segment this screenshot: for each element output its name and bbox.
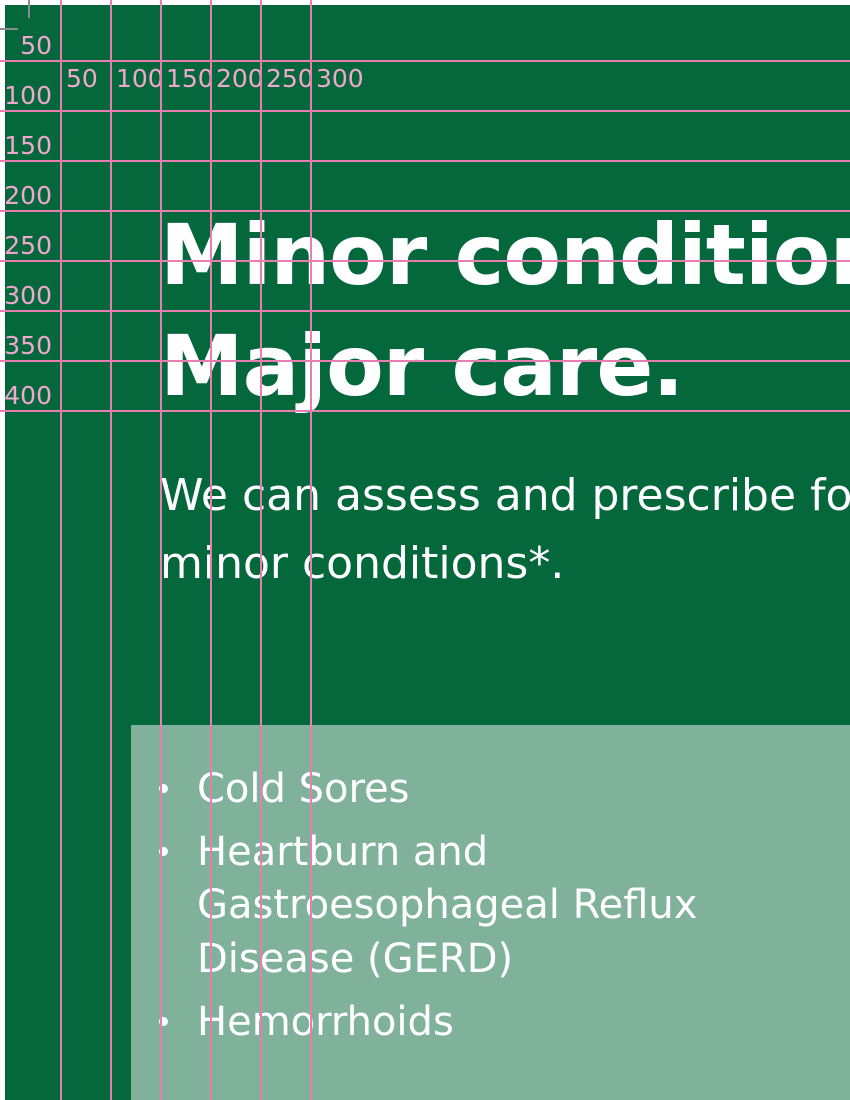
headline-line-2: Major care.	[160, 311, 850, 422]
headline-line-1: Minor conditions.	[160, 200, 850, 311]
ruler-tick-horizontal	[0, 28, 18, 30]
list-item: Heartburn and Gastroesophageal Reflux Di…	[153, 826, 817, 986]
bullet-icon	[159, 784, 168, 793]
screenshot-root: Minor conditions. Major care. We can ass…	[0, 0, 850, 1100]
bullet-icon	[159, 1017, 168, 1026]
hero-content: Minor conditions. Major care. We can ass…	[160, 200, 850, 598]
subhead-line-1: We can assess and prescribe for	[160, 462, 850, 530]
ruler-tick-vertical	[28, 0, 30, 18]
list-item-label: Cold Sores	[197, 766, 410, 812]
conditions-panel: Cold Sores Heartburn and Gastroesophagea…	[131, 725, 850, 1100]
list-item: Hemorrhoids	[153, 996, 817, 1049]
list-item: Cold Sores	[153, 763, 817, 816]
subhead-line-2: minor conditions*.	[160, 530, 850, 598]
bullet-icon	[159, 847, 168, 856]
conditions-list: Cold Sores Heartburn and Gastroesophagea…	[131, 725, 850, 1049]
list-item-label: Heartburn and Gastroesophageal Reflux Di…	[197, 829, 697, 981]
list-item-label: Hemorrhoids	[197, 999, 454, 1045]
